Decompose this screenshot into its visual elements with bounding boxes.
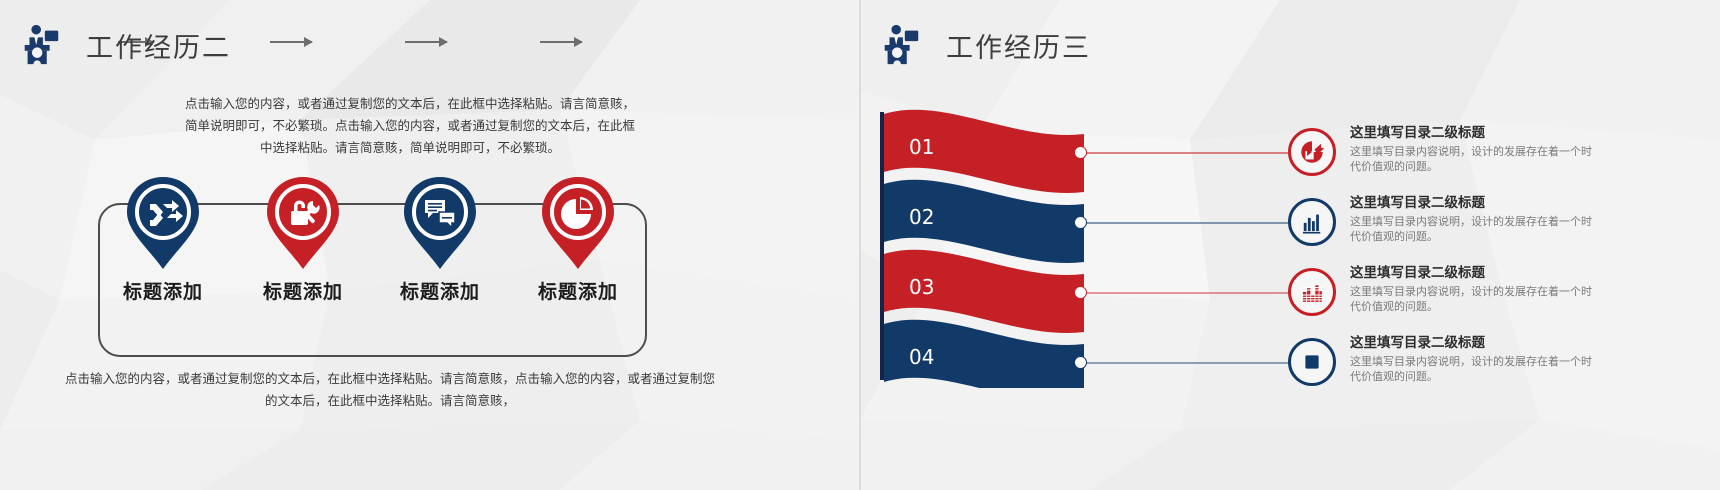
pin-label-2: 标题添加: [260, 277, 346, 304]
map-pin-shape-3: [402, 175, 478, 271]
flag-number-2: 02: [909, 205, 934, 229]
connector-dot-3: [1074, 286, 1087, 299]
item-title: 这里填写目录二级标题: [1350, 124, 1600, 142]
connector-dot-1: [1074, 146, 1087, 159]
flow-arrow-3: [405, 41, 447, 43]
connector-dot-4: [1074, 356, 1087, 369]
presenter-podium-icon: [18, 22, 64, 68]
item-desc: 这里填写目录内容说明，设计的发展存在着一个时代价值观的问题。: [1350, 214, 1600, 244]
flag-number-1: 01: [909, 135, 934, 159]
list-item[interactable]: 这里填写目录二级标题 这里填写目录内容说明，设计的发展存在着一个时代价值观的问题…: [1060, 258, 1490, 328]
list-item[interactable]: 这里填写目录二级标题 这里填写目录内容说明，设计的发展存在着一个时代价值观的问题…: [1060, 328, 1490, 398]
item-title: 这里填写目录二级标题: [1350, 334, 1600, 352]
item-desc: 这里填写目录内容说明，设计的发展存在着一个时代价值观的问题。: [1350, 354, 1600, 384]
item-title: 这里填写目录二级标题: [1350, 264, 1600, 282]
flag-number-4: 04: [909, 345, 934, 369]
map-pin-shape-2: [265, 175, 341, 271]
item-text-4: 这里填写目录二级标题 这里填写目录内容说明，设计的发展存在着一个时代价值观的问题…: [1350, 334, 1600, 384]
pin-item-1[interactable]: 标题添加: [120, 175, 206, 304]
target-arrow-icon[interactable]: [1288, 128, 1336, 176]
map-pin-shape-1: [125, 175, 201, 271]
pin-label-3: 标题添加: [397, 277, 483, 304]
right-page-title: 工作经历三: [946, 26, 1091, 65]
stop-square-icon[interactable]: [1288, 338, 1336, 386]
item-title: 这里填写目录二级标题: [1350, 194, 1600, 212]
connector-line-3: [1078, 292, 1290, 294]
list-item[interactable]: 这里填写目录二级标题 这里填写目录内容说明，设计的发展存在着一个时代价值观的问题…: [1060, 188, 1490, 258]
pin-label-4: 标题添加: [535, 277, 621, 304]
item-text-1: 这里填写目录二级标题 这里填写目录内容说明，设计的发展存在着一个时代价值观的问题…: [1350, 124, 1600, 174]
connector-line-2: [1078, 222, 1290, 224]
list-item[interactable]: 这里填写目录二级标题 这里填写目录内容说明，设计的发展存在着一个时代价值观的问题…: [1060, 118, 1490, 188]
presenter-podium-icon: [878, 22, 924, 68]
bar-chart-icon[interactable]: [1288, 198, 1336, 246]
connector-line-1: [1078, 152, 1290, 154]
flow-arrow-2: [270, 41, 312, 43]
right-header: 工作经历三: [878, 22, 1091, 68]
pin-item-4[interactable]: 标题添加: [535, 175, 621, 304]
left-paragraph-bottom: 点击输入您的内容，或者通过复制您的文本后，在此框中选择粘贴。请言简意赅，点击输入…: [60, 368, 720, 412]
connector-line-4: [1078, 362, 1290, 364]
equalizer-icon[interactable]: [1288, 268, 1336, 316]
slide-deck: 工作经历二 点击输入您的内容，或者通过复制您的文本后，在此框中选择粘贴。请言简意…: [0, 0, 1720, 490]
pin-item-3[interactable]: 标题添加: [397, 175, 483, 304]
left-header: 工作经历二: [18, 22, 231, 68]
map-pin-shape-4: [540, 175, 616, 271]
pin-row: 标题添加 标题添加: [105, 175, 665, 335]
item-text-3: 这里填写目录二级标题 这里填写目录内容说明，设计的发展存在着一个时代价值观的问题…: [1350, 264, 1600, 314]
item-desc: 这里填写目录内容说明，设计的发展存在着一个时代价值观的问题。: [1350, 144, 1600, 174]
left-paragraph-top: 点击输入您的内容，或者通过复制您的文本后，在此框中选择粘贴。请言简意赅，简单说明…: [185, 93, 635, 159]
right-item-list: 这里填写目录二级标题 这里填写目录内容说明，设计的发展存在着一个时代价值观的问题…: [1060, 118, 1490, 398]
slide-work-experience-two: 工作经历二 点击输入您的内容，或者通过复制您的文本后，在此框中选择粘贴。请言简意…: [0, 0, 860, 490]
connector-dot-2: [1074, 216, 1087, 229]
flag-pole: [880, 112, 884, 380]
flow-arrow-4: [540, 41, 582, 43]
flag-number-3: 03: [909, 275, 934, 299]
item-desc: 这里填写目录内容说明，设计的发展存在着一个时代价值观的问题。: [1350, 284, 1600, 314]
left-page-title: 工作经历二: [86, 26, 231, 65]
pin-item-2[interactable]: 标题添加: [260, 175, 346, 304]
item-text-2: 这里填写目录二级标题 这里填写目录内容说明，设计的发展存在着一个时代价值观的问题…: [1350, 194, 1600, 244]
pin-label-1: 标题添加: [120, 277, 206, 304]
slide-divider: [859, 0, 861, 490]
